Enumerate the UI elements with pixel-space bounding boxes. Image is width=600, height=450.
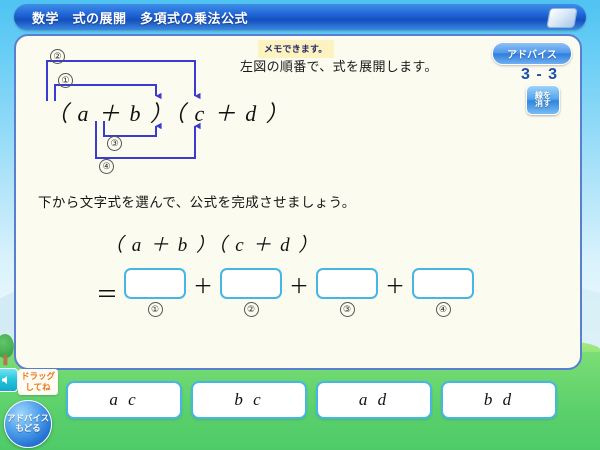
tile-tray: a c b c a d b d bbox=[66, 381, 557, 419]
answer-slot-4[interactable] bbox=[412, 268, 474, 299]
draggable-tile[interactable]: a c bbox=[66, 381, 182, 419]
answer-slot-3-wrap: ③ bbox=[316, 268, 378, 317]
tree-trunk bbox=[3, 355, 7, 365]
speaker-icon[interactable] bbox=[0, 368, 18, 392]
draggable-tile[interactable]: b d bbox=[441, 381, 557, 419]
erase-lines-label-2: 消す bbox=[535, 100, 551, 108]
plus-sign-2: ＋ bbox=[289, 270, 309, 299]
plus-sign-1: ＋ bbox=[193, 270, 213, 299]
answer-slot-4-wrap: ④ bbox=[412, 268, 474, 317]
arrow-label-2: ② bbox=[50, 49, 65, 64]
answer-slot-1-label: ① bbox=[148, 302, 163, 317]
answer-slot-3-label: ③ bbox=[340, 302, 355, 317]
advice-back-button[interactable]: アドバイス もどる bbox=[4, 400, 52, 448]
advice-back-line-2: もどる bbox=[15, 424, 40, 434]
page-title: 数学 式の展開 多項式の乗法公式 bbox=[32, 8, 248, 27]
plus-sign-3: ＋ bbox=[385, 270, 405, 299]
answer-slot-1[interactable] bbox=[124, 268, 186, 299]
title-bar: 数学 式の展開 多項式の乗法公式 bbox=[14, 4, 586, 30]
drag-hint-line-2: してね bbox=[19, 382, 57, 393]
erase-lines-button[interactable]: 線を 消す bbox=[526, 85, 560, 115]
diagram-expression: （ a ＋ b ）（ c ＋ d ） bbox=[46, 96, 290, 128]
answer-slot-3[interactable] bbox=[316, 268, 378, 299]
answer-slot-2-wrap: ② bbox=[220, 268, 282, 317]
equals-sign: ＝ bbox=[96, 277, 118, 309]
answer-expression: （ a ＋ b ）（ c ＋ d ） bbox=[104, 230, 319, 257]
draggable-tile[interactable]: a d bbox=[316, 381, 432, 419]
draggable-tile[interactable]: b c bbox=[191, 381, 307, 419]
content-panel: アドバイス 3 - 3 線を 消す メモできます。 左図の順番で、式を展開します… bbox=[14, 34, 582, 370]
drag-hint-tooltip: ドラッグ してね bbox=[18, 369, 58, 395]
arrow-label-3: ③ bbox=[107, 136, 122, 151]
speaker-glyph bbox=[0, 374, 12, 386]
page-number: 3 - 3 bbox=[521, 66, 558, 84]
arrow-label-4: ④ bbox=[99, 159, 114, 174]
advice-button[interactable]: アドバイス bbox=[492, 42, 572, 65]
answer-slot-1-wrap: ① bbox=[124, 268, 186, 317]
app-stage: 数学 式の展開 多項式の乗法公式 アドバイス 3 - 3 線を 消す メモできま… bbox=[0, 0, 600, 450]
answer-slot-2-label: ② bbox=[244, 302, 259, 317]
drag-hint-line-1: ドラッグ bbox=[19, 371, 57, 382]
answer-slot-2[interactable] bbox=[220, 268, 282, 299]
arrow-diagram: ① ② ③ ④ （ a ＋ b ）（ c ＋ d ） bbox=[32, 40, 272, 180]
answer-slot-4-label: ④ bbox=[436, 302, 451, 317]
answer-row: ＝ ① ＋ ② ＋ ③ ＋ ④ bbox=[96, 268, 474, 317]
eraser-icon[interactable] bbox=[546, 8, 578, 28]
arrow-label-1: ① bbox=[58, 73, 73, 88]
instruction-middle: 下から文字式を選んで、公式を完成させましょう。 bbox=[38, 191, 356, 211]
